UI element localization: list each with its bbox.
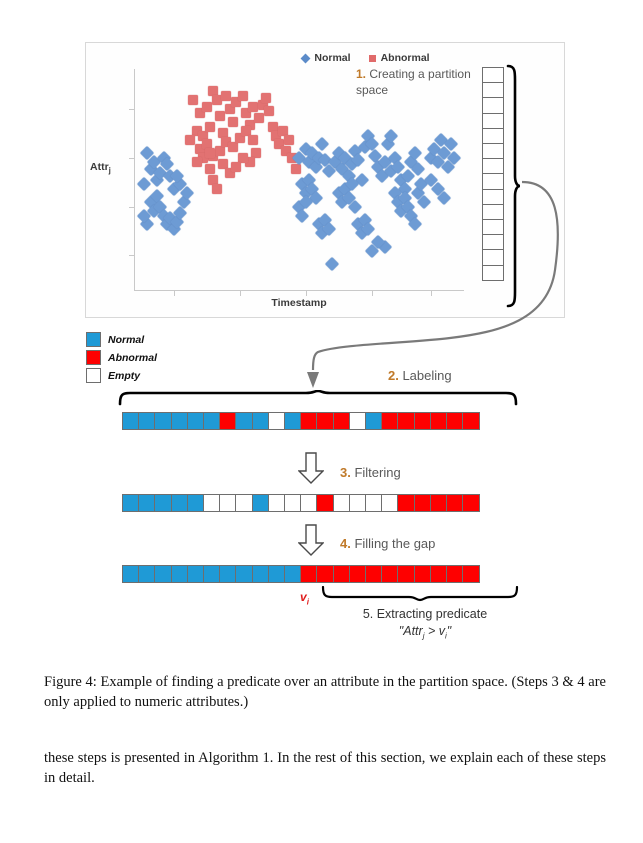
step-3-label: 3. Filtering: [340, 465, 401, 480]
partition-cell-white: [203, 494, 221, 512]
color-key-label-abnormal: Abnormal: [108, 352, 157, 364]
x-axis-tick: [306, 291, 307, 296]
partition-cell-red: [316, 565, 334, 583]
scatter-point-abnormal: [188, 95, 198, 105]
color-key-row-empty: Empty: [86, 368, 236, 383]
step-3-text: Filtering: [351, 465, 401, 480]
partition-cell-blue: [138, 565, 156, 583]
scatter-point-abnormal: [202, 102, 212, 112]
partition-cell: [482, 219, 504, 236]
partition-cell-blue: [284, 565, 302, 583]
partition-cell-red: [316, 412, 334, 430]
y-axis-line: [134, 69, 135, 291]
scatter-point-abnormal: [215, 146, 225, 156]
partition-cell-red: [397, 412, 415, 430]
partition-cell-red: [333, 412, 351, 430]
step-4-number: 4.: [340, 536, 351, 551]
partition-cell-red: [446, 565, 464, 583]
diamond-marker-icon: [301, 53, 311, 63]
scatter-point-abnormal: [248, 135, 258, 145]
partition-column-brace-icon: [506, 62, 522, 310]
partition-cell-blue: [235, 412, 253, 430]
y-axis-tick: [129, 158, 134, 159]
partition-cell-white: [365, 494, 383, 512]
scatter-point-abnormal: [215, 111, 225, 121]
swatch-abnormal-icon: [86, 350, 101, 365]
scatter-point-normal: [137, 177, 151, 191]
partition-cell-blue: [235, 565, 253, 583]
y-axis-label-subscript: j: [109, 166, 111, 175]
scatter-point-abnormal: [185, 135, 195, 145]
scatter-point-abnormal: [212, 184, 222, 194]
partition-cell-blue: [138, 494, 156, 512]
partition-cell: [482, 249, 504, 266]
partition-cell-red: [414, 412, 432, 430]
partition-cell-blue: [154, 412, 172, 430]
partition-cell: [482, 97, 504, 114]
legend-item-normal: Normal: [302, 52, 350, 64]
step-1-text: Creating a partition space: [356, 67, 471, 97]
partition-cell-blue: [252, 494, 270, 512]
scatter-plot-area: [134, 69, 464, 291]
legend-label-normal: Normal: [314, 52, 350, 64]
partition-cell-red: [462, 494, 480, 512]
color-key-label-empty: Empty: [108, 370, 140, 382]
step-4-cell-row: [122, 565, 480, 583]
step-4-label: 4. Filling the gap: [340, 536, 435, 551]
partition-cell-white: [268, 412, 286, 430]
partition-cell-red: [300, 412, 318, 430]
scatter-point-abnormal: [284, 135, 294, 145]
scatter-point-normal: [325, 257, 339, 271]
partition-cell-white: [349, 412, 367, 430]
scatter-point-abnormal: [205, 122, 215, 132]
step-5-line1: 5. Extracting predicate: [330, 606, 520, 623]
legend-label-abnormal: Abnormal: [381, 52, 430, 64]
partition-cell-red: [333, 565, 351, 583]
step-3-number: 3.: [340, 465, 351, 480]
scatter-point-abnormal: [231, 162, 241, 172]
partition-cell-red: [219, 412, 237, 430]
partition-cell: [482, 158, 504, 175]
color-key-row-normal: Normal: [86, 332, 236, 347]
scatter-point-abnormal: [261, 93, 271, 103]
step-5-label: 5. Extracting predicate "Attrj > vi": [330, 606, 520, 645]
legend-item-abnormal: Abnormal: [369, 52, 430, 64]
partition-cell-red: [316, 494, 334, 512]
partition-cell-blue: [122, 412, 140, 430]
figure-container: Normal Abnormal Attrj Timestamp 1. Creat…: [0, 0, 643, 843]
step-5-predicate: "Attrj > vi": [330, 623, 520, 645]
x-axis-tick: [240, 291, 241, 296]
partition-cell-white: [333, 494, 351, 512]
partition-cell: [482, 265, 504, 282]
partition-cell-white: [300, 494, 318, 512]
partition-cell: [482, 67, 504, 84]
y-axis-label: Attrj: [90, 161, 111, 175]
scatter-point-abnormal: [264, 106, 274, 116]
step-5-brace-icon: [320, 586, 520, 602]
scatter-point-abnormal: [291, 164, 301, 174]
partition-cell-red: [446, 412, 464, 430]
scatter-point-abnormal: [192, 157, 202, 167]
partition-cell-white: [268, 494, 286, 512]
swatch-empty-icon: [86, 368, 101, 383]
partition-cell-red: [414, 565, 432, 583]
scatter-point-abnormal: [248, 102, 258, 112]
partition-cell: [482, 82, 504, 99]
partition-cell-blue: [252, 565, 270, 583]
partition-cell: [482, 189, 504, 206]
x-axis-tick: [372, 291, 373, 296]
partition-cell: [482, 143, 504, 160]
down-arrow-step-3-icon: [298, 452, 324, 484]
step-1-note: 1. Creating a partition space: [356, 66, 476, 98]
partition-cell-blue: [122, 494, 140, 512]
partition-cell-white: [381, 494, 399, 512]
partition-cell-blue: [203, 565, 221, 583]
x-axis-label: Timestamp: [134, 297, 464, 309]
square-marker-icon: [369, 55, 376, 62]
y-axis-tick: [129, 255, 134, 256]
partition-cell-red: [414, 494, 432, 512]
partition-cell-white: [235, 494, 253, 512]
scatter-point-abnormal: [254, 113, 264, 123]
step-4-text: Filling the gap: [351, 536, 436, 551]
step-1-number: 1.: [356, 67, 366, 81]
partition-cell-blue: [203, 412, 221, 430]
figure-caption: Figure 4: Example of finding a predicate…: [44, 672, 606, 712]
scatter-point-abnormal: [205, 148, 215, 158]
partition-cell: [482, 113, 504, 130]
step-2-label: 2. Labeling: [388, 368, 452, 383]
partition-cell-blue: [154, 565, 172, 583]
partition-cell-red: [430, 565, 448, 583]
partition-cell-red: [381, 565, 399, 583]
partition-cell-blue: [252, 412, 270, 430]
swatch-normal-icon: [86, 332, 101, 347]
partition-cell-red: [349, 565, 367, 583]
partition-cell-red: [446, 494, 464, 512]
partition-cell-blue: [154, 494, 172, 512]
partition-cell-red: [397, 494, 415, 512]
partition-cell-red: [462, 412, 480, 430]
partition-cell-red: [300, 565, 318, 583]
partition-cell-blue: [187, 565, 205, 583]
partition-cell-red: [365, 565, 383, 583]
down-arrow-step-4-icon: [298, 524, 324, 556]
body-paragraph: these steps is presented in Algorithm 1.…: [44, 748, 606, 788]
scatter-point-normal: [315, 137, 329, 151]
chart-legend: Normal Abnormal: [216, 49, 516, 67]
partition-cell: [482, 173, 504, 190]
scatter-point-abnormal: [205, 164, 215, 174]
scatter-point-abnormal: [238, 91, 248, 101]
x-axis-tick: [174, 291, 175, 296]
step-2-text: Labeling: [399, 368, 452, 383]
partition-cell-white: [219, 494, 237, 512]
partition-cell-red: [430, 412, 448, 430]
partition-cell-red: [381, 412, 399, 430]
partition-cell-white: [349, 494, 367, 512]
partition-cell-red: [397, 565, 415, 583]
step-2-number: 2.: [388, 368, 399, 383]
partition-cell-blue: [365, 412, 383, 430]
y-axis-tick: [129, 207, 134, 208]
threshold-subscript: i: [307, 597, 309, 606]
color-key: Normal Abnormal Empty: [86, 332, 236, 386]
partition-cell-red: [462, 565, 480, 583]
partition-cell-blue: [171, 494, 189, 512]
step-2-cell-row: [122, 412, 480, 430]
threshold-value-label: vi: [300, 590, 309, 606]
partition-cell-blue: [122, 565, 140, 583]
partition-cell-white: [284, 494, 302, 512]
color-key-label-normal: Normal: [108, 334, 144, 346]
partition-cell-blue: [138, 412, 156, 430]
partition-cell-blue: [284, 412, 302, 430]
step-3-cell-row: [122, 494, 480, 512]
scatter-point-abnormal: [228, 117, 238, 127]
partition-cell-blue: [171, 412, 189, 430]
x-axis-tick: [431, 291, 432, 296]
partition-cell-red: [430, 494, 448, 512]
partition-cell-blue: [187, 494, 205, 512]
partition-cell-blue: [171, 565, 189, 583]
step-2-brace-icon: [116, 390, 520, 406]
y-axis-tick: [129, 109, 134, 110]
partition-space-column: [482, 67, 504, 281]
partition-cell-blue: [187, 412, 205, 430]
color-key-row-abnormal: Abnormal: [86, 350, 236, 365]
scatter-point-abnormal: [212, 95, 222, 105]
partition-cell: [482, 128, 504, 145]
x-axis-line: [134, 290, 464, 291]
partition-cell: [482, 204, 504, 221]
partition-cell: [482, 234, 504, 251]
partition-cell-blue: [268, 565, 286, 583]
scatter-point-abnormal: [221, 91, 231, 101]
partition-cell-blue: [219, 565, 237, 583]
scatter-point-abnormal: [228, 142, 238, 152]
